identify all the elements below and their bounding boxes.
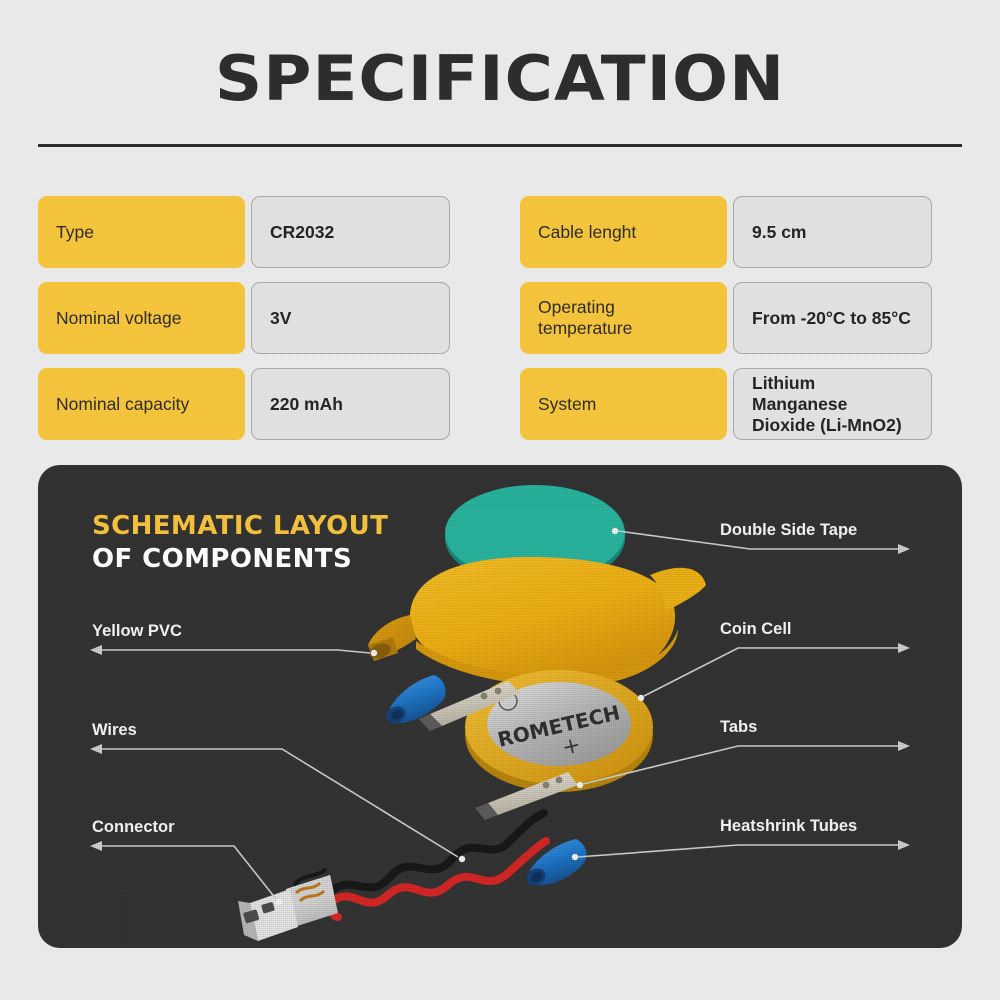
schematic-heading-line1: SCHEMATIC LAYOUT xyxy=(92,510,388,543)
spec-row: Type CR2032 xyxy=(38,196,480,268)
spec-value: 220 mAh xyxy=(251,368,450,440)
schematic-heading: SCHEMATIC LAYOUT OF COMPONENTS xyxy=(92,510,388,576)
page-title: SPECIFICATION xyxy=(10,48,989,110)
spec-row: Nominal capacity 220 mAh xyxy=(38,368,480,440)
spec-key: Nominal capacity xyxy=(38,368,245,440)
spec-row: Operating temperature From -20°C to 85°C xyxy=(520,282,962,354)
spec-value: 3V xyxy=(251,282,450,354)
spec-value: From -20°C to 85°C xyxy=(733,282,932,354)
callout-label-tabs: Tabs xyxy=(720,718,757,737)
callout-label-yellow-pvc: Yellow PVC xyxy=(92,622,182,641)
schematic-panel: ROMETECH + xyxy=(38,465,962,948)
wires-part xyxy=(324,813,546,933)
spec-value: CR2032 xyxy=(251,196,450,268)
callout-label-double-side-tape: Double Side Tape xyxy=(720,521,857,540)
connector-part xyxy=(238,869,338,941)
callout-label-heatshrink-tubes: Heatshrink Tubes xyxy=(720,817,857,836)
specification-table: Type CR2032 Cable lenght 9.5 cm Nominal … xyxy=(38,196,962,440)
spec-value: Lithium Manganese Dioxide (Li-MnO2) xyxy=(733,368,932,440)
spec-value: 9.5 cm xyxy=(733,196,932,268)
callout-label-coin-cell: Coin Cell xyxy=(720,620,792,639)
spec-row: System Lithium Manganese Dioxide (Li-MnO… xyxy=(520,368,962,440)
schematic-heading-line2: OF COMPONENTS xyxy=(92,543,388,576)
spec-key: System xyxy=(520,368,727,440)
title-divider xyxy=(38,144,962,147)
yellow-pvc-part xyxy=(367,557,706,686)
spec-row: Nominal voltage 3V xyxy=(38,282,480,354)
spec-key: Cable lenght xyxy=(520,196,727,268)
spec-key: Type xyxy=(38,196,245,268)
spec-row: Cable lenght 9.5 cm xyxy=(520,196,962,268)
spec-key: Operating temperature xyxy=(520,282,727,354)
callout-label-wires: Wires xyxy=(92,721,137,740)
spec-key: Nominal voltage xyxy=(38,282,245,354)
callout-label-connector: Connector xyxy=(92,818,175,837)
